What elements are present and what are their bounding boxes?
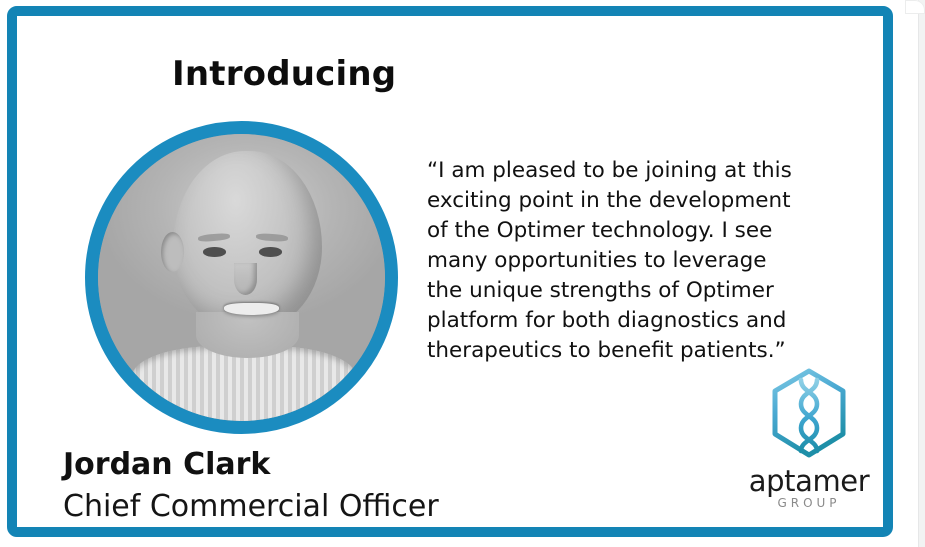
person-role: Chief Commercial Officer	[63, 489, 439, 524]
slide-card-frame: Introducing	[7, 6, 893, 537]
brand-logo: aptamer GROUP	[739, 368, 879, 520]
aptamer-hexagon-dna-icon	[768, 368, 850, 460]
page-title: Introducing	[172, 54, 396, 94]
avatar-ring	[85, 121, 398, 434]
avatar-photo	[98, 134, 385, 421]
page-corner	[905, 0, 925, 14]
portrait-nose	[234, 263, 257, 295]
avatar	[85, 121, 398, 434]
portrait-ear	[161, 232, 184, 272]
portrait-chin	[196, 312, 299, 358]
portrait-eye-left	[203, 247, 226, 256]
portrait-eye-right	[259, 247, 282, 256]
slide-card-inner: Introducing	[17, 16, 883, 527]
quote-text: “I am pleased to be joining at this exci…	[427, 156, 792, 366]
person-name: Jordan Clark	[63, 447, 270, 482]
brand-wordmark: aptamer	[739, 464, 879, 498]
slide-surface: Introducing	[0, 0, 925, 547]
brand-subtext: GROUP	[739, 496, 879, 510]
page-edge	[918, 0, 925, 547]
